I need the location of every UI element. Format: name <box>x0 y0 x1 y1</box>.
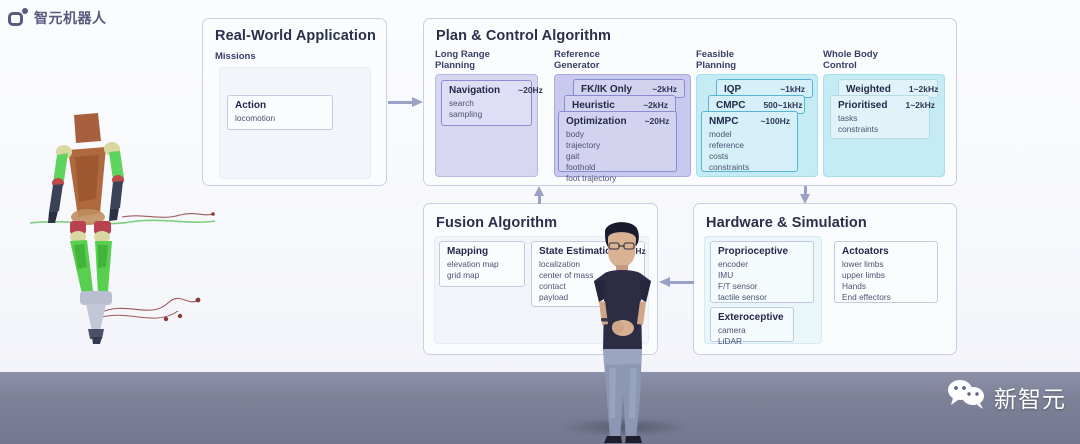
panel-real-world-application: Real-World Application Missions Action l… <box>202 18 387 186</box>
brand-name: 智元机器人 <box>34 8 107 28</box>
label-reference-generator: Reference Generator <box>554 49 600 71</box>
card-title-cmpc: CMPC <box>716 100 745 111</box>
card-title-heuristic: Heuristic <box>572 100 615 111</box>
card-freq-optimization: ~20Hz <box>635 116 670 126</box>
robot-simulation-figure <box>30 95 215 345</box>
arrow-plan-to-hardware <box>800 186 812 204</box>
card-title-exteroceptive: Exteroceptive <box>718 312 784 323</box>
panel-hardware-simulation: Hardware & Simulation Proprioceptive enc… <box>693 203 957 355</box>
card-title-fk-ik-only: FK/IK Only <box>581 84 632 95</box>
card-title-prioritised: Prioritised <box>838 100 887 111</box>
card-navigation[interactable]: Navigation ~20Hz search sampling <box>441 80 532 126</box>
arrow-real-to-plan <box>388 97 424 109</box>
label-feasible-planning: Feasible Planning <box>696 49 736 71</box>
panel-plan-control-algorithm: Plan & Control Algorithm Long Range Plan… <box>423 18 957 186</box>
card-prioritised[interactable]: Prioritised 1~2kHz tasks constraints <box>830 95 930 139</box>
label-missions: Missions <box>215 51 256 62</box>
channel-watermark: 新智元 <box>947 378 1066 415</box>
card-action[interactable]: Action locomotion <box>227 95 333 130</box>
card-optimization[interactable]: Optimization ~20Hz body trajectory gait … <box>558 111 677 172</box>
card-title-navigation: Navigation <box>449 85 500 96</box>
card-title-proprioceptive: Proprioceptive <box>718 246 788 257</box>
card-nmpc[interactable]: NMPC ~100Hz model reference costs constr… <box>701 111 798 172</box>
agibot-logo-icon <box>8 8 28 28</box>
card-body-navigation: search sampling <box>449 98 524 120</box>
card-exteroceptive[interactable]: Exteroceptive camera LiDAR <box>710 307 794 342</box>
panel-title-plan-control: Plan & Control Algorithm <box>436 28 611 44</box>
label-long-range-planning: Long Range Planning <box>435 49 490 71</box>
brand-logo: 智元机器人 <box>8 8 107 28</box>
card-mapping[interactable]: Mapping elevation map grid map <box>439 241 525 287</box>
panel-title-hardware: Hardware & Simulation <box>706 215 867 231</box>
card-body-actuators: lower limbs upper limbs Hands End effect… <box>842 259 930 303</box>
panel-title-real-world: Real-World Application <box>215 28 376 44</box>
card-title-action: Action <box>235 100 266 111</box>
card-title-optimization: Optimization <box>566 116 627 127</box>
card-freq-cmpc: 500~1kHz <box>753 100 802 110</box>
card-body-nmpc: model reference costs constraints <box>709 129 790 173</box>
card-body-proprioceptive: encoder IMU F/T sensor tactile sensor <box>718 259 806 303</box>
card-title-weighted: Weighted <box>846 84 891 95</box>
card-freq-weighted: 1~2kHz <box>899 84 939 94</box>
card-body-optimization: body trajectory gait foothold foot traje… <box>566 129 669 184</box>
card-freq-nmpc: ~100Hz <box>750 116 790 126</box>
stage-floor <box>0 372 1080 444</box>
card-proprioceptive[interactable]: Proprioceptive encoder IMU F/T sensor ta… <box>710 241 814 303</box>
watermark-text: 新智元 <box>994 380 1066 414</box>
card-body-exteroceptive: camera LiDAR <box>718 325 786 347</box>
card-actuators[interactable]: Actoators lower limbs upper limbs Hands … <box>834 241 938 303</box>
card-freq-navigation: ~20Hz <box>508 85 543 95</box>
card-freq-fk-ik-only: ~2kHz <box>642 84 677 94</box>
card-title-mapping: Mapping <box>447 246 488 257</box>
card-body-action: locomotion <box>235 113 325 124</box>
card-freq-iqp: ~1kHz <box>770 84 805 94</box>
card-title-iqp: IQP <box>724 84 741 95</box>
arrow-fusion-to-plan <box>534 186 546 204</box>
card-freq-heuristic: ~2kHz <box>633 100 668 110</box>
card-title-nmpc: NMPC <box>709 116 738 127</box>
panel-title-fusion: Fusion Algorithm <box>436 215 557 231</box>
wechat-icon <box>947 378 987 415</box>
stage-scene: 智元机器人 <box>0 0 1080 444</box>
presentation-slide: 智元机器人 <box>0 0 1080 372</box>
card-body-prioritised: tasks constraints <box>838 113 922 135</box>
card-title-actuators: Actoators <box>842 246 889 257</box>
card-body-mapping: elevation map grid map <box>447 259 517 281</box>
presenter-person <box>572 218 676 444</box>
card-freq-prioritised: 1~2kHz <box>895 100 935 110</box>
label-whole-body-control: Whole Body Control <box>823 49 878 71</box>
